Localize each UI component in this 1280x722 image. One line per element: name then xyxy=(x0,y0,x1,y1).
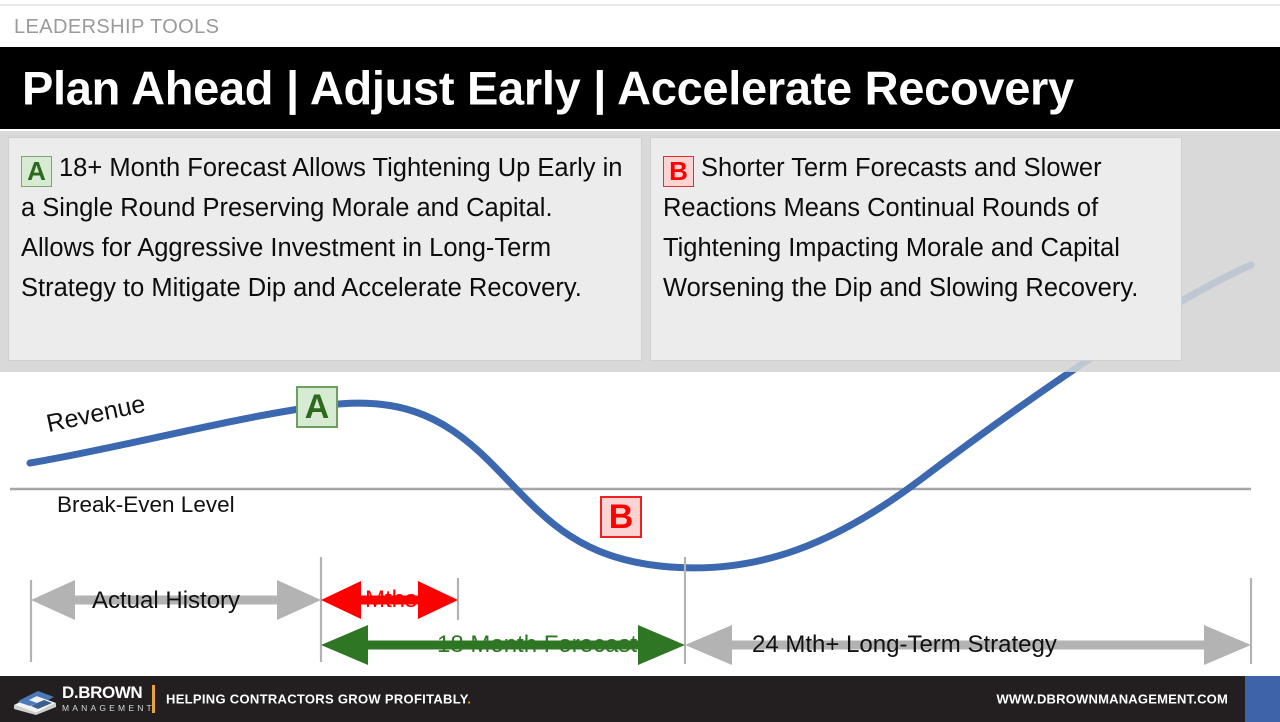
timeline-label-24-month-strategy: 24 Mth+ Long-Term Strategy xyxy=(752,631,1057,659)
break-even-label: Break-Even Level xyxy=(57,492,235,518)
chart-marker-a[interactable]: A xyxy=(296,386,338,428)
callout-box-b: BShorter Term Forecasts and Slower React… xyxy=(650,137,1182,361)
brand-subname: MANAGEMENT xyxy=(62,702,155,714)
footer-accent-block xyxy=(1245,676,1280,722)
footer-divider xyxy=(152,685,155,713)
slide-root: LEADERSHIP TOOLS Plan Ahead | Adjust Ear… xyxy=(0,0,1280,722)
timeline-label-18-month-forecast: 18 Month Forecast xyxy=(437,631,637,659)
brand-logo[interactable]: D.BROWN MANAGEMENT xyxy=(10,681,150,717)
timeline-label-6-months: 6 Mths xyxy=(345,586,417,614)
brand-name: D.BROWN xyxy=(62,684,155,702)
callout-b-tag: B xyxy=(663,156,694,187)
footer-bar: D.BROWN MANAGEMENT HELPING CONTRACTORS G… xyxy=(0,676,1280,722)
footer-tagline: HELPING CONTRACTORS GROW PROFITABLY. xyxy=(166,692,471,707)
callout-a-paragraph: A18+ Month Forecast Allows Tightening Up… xyxy=(21,148,627,308)
chart-marker-b[interactable]: B xyxy=(600,496,642,538)
callout-a-tag: A xyxy=(21,156,52,187)
footer-tagline-text: HELPING CONTRACTORS GROW PROFITABLY xyxy=(166,692,467,707)
book-chevron-icon xyxy=(10,681,58,715)
callout-a-text: 18+ Month Forecast Allows Tightening Up … xyxy=(21,154,622,302)
callout-b-paragraph: BShorter Term Forecasts and Slower React… xyxy=(663,148,1167,308)
callout-box-a: A18+ Month Forecast Allows Tightening Up… xyxy=(8,137,642,361)
footer-tagline-dot: . xyxy=(467,692,471,707)
brand-logo-text: D.BROWN MANAGEMENT xyxy=(62,684,155,714)
footer-website[interactable]: WWW.DBROWNMANAGEMENT.COM xyxy=(996,692,1228,707)
callout-b-text: Shorter Term Forecasts and Slower Reacti… xyxy=(663,154,1138,302)
timeline-label-actual-history: Actual History xyxy=(88,587,244,615)
